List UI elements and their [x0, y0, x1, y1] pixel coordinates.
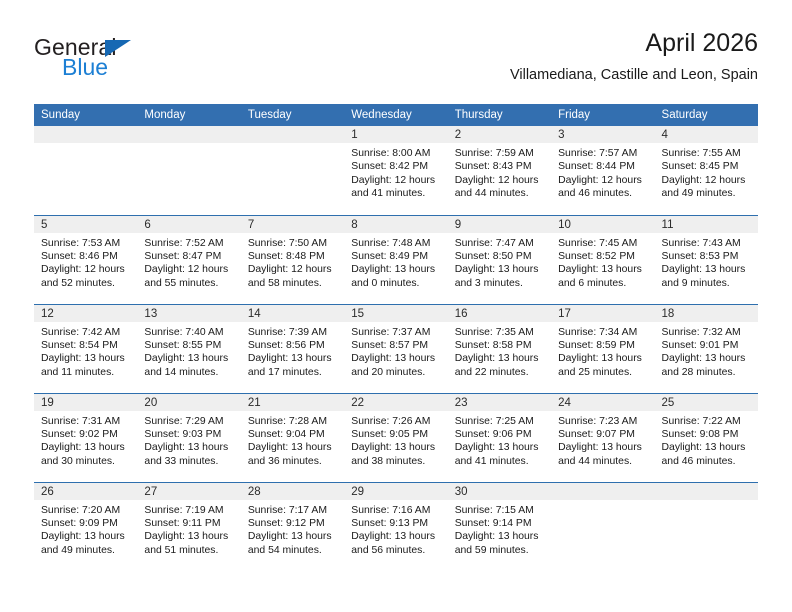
- daylight-text-line1: Daylight: 13 hours: [455, 530, 545, 543]
- daylight-text-line2: and 54 minutes.: [248, 544, 338, 557]
- page-title: April 2026: [510, 28, 758, 58]
- day-number: 19: [34, 394, 137, 411]
- day-cell-details: Sunrise: 7:22 AMSunset: 9:08 PMDaylight:…: [655, 411, 758, 469]
- day-cell-inner: 22Sunrise: 7:26 AMSunset: 9:05 PMDayligh…: [344, 394, 447, 482]
- day-cell-inner: 24Sunrise: 7:23 AMSunset: 9:07 PMDayligh…: [551, 394, 654, 482]
- daylight-text-line2: and 0 minutes.: [351, 277, 441, 290]
- daylight-text-line2: and 58 minutes.: [248, 277, 338, 290]
- day-number: 15: [344, 305, 447, 322]
- day-cell-inner: 25Sunrise: 7:22 AMSunset: 9:08 PMDayligh…: [655, 394, 758, 482]
- sunset-text: Sunset: 8:56 PM: [248, 339, 338, 352]
- daylight-text-line1: Daylight: 13 hours: [351, 352, 441, 365]
- day-number: 27: [137, 483, 240, 500]
- day-cell-inner: [241, 126, 344, 215]
- daylight-text-line2: and 41 minutes.: [351, 187, 441, 200]
- day-cell-details: Sunrise: 7:29 AMSunset: 9:03 PMDaylight:…: [137, 411, 240, 469]
- day-cell-inner: 7Sunrise: 7:50 AMSunset: 8:48 PMDaylight…: [241, 216, 344, 304]
- sunrise-text: Sunrise: 7:52 AM: [144, 237, 234, 250]
- sunset-text: Sunset: 8:44 PM: [558, 160, 648, 173]
- sunset-text: Sunset: 8:57 PM: [351, 339, 441, 352]
- day-cell-details: Sunrise: 7:45 AMSunset: 8:52 PMDaylight:…: [551, 233, 654, 291]
- daylight-text-line2: and 56 minutes.: [351, 544, 441, 557]
- day-cell[interactable]: 24Sunrise: 7:23 AMSunset: 9:07 PMDayligh…: [551, 393, 654, 482]
- sunrise-text: Sunrise: 7:19 AM: [144, 504, 234, 517]
- calendar-page: General Blue April 2026 Villamediana, Ca…: [0, 0, 792, 612]
- day-cell-empty: [137, 126, 240, 215]
- sunrise-text: Sunrise: 7:40 AM: [144, 326, 234, 339]
- daylight-text-line1: Daylight: 12 hours: [144, 263, 234, 276]
- day-cell-details: Sunrise: 8:00 AMSunset: 8:42 PMDaylight:…: [344, 143, 447, 201]
- sunset-text: Sunset: 8:47 PM: [144, 250, 234, 263]
- sunset-text: Sunset: 9:04 PM: [248, 428, 338, 441]
- day-cell[interactable]: 9Sunrise: 7:47 AMSunset: 8:50 PMDaylight…: [448, 215, 551, 304]
- daylight-text-line1: Daylight: 12 hours: [351, 174, 441, 187]
- day-cell-details: Sunrise: 7:15 AMSunset: 9:14 PMDaylight:…: [448, 500, 551, 558]
- daylight-text-line1: Daylight: 13 hours: [455, 352, 545, 365]
- day-number: 5: [34, 216, 137, 233]
- calendar-body: 1Sunrise: 8:00 AMSunset: 8:42 PMDaylight…: [34, 126, 758, 571]
- sunset-text: Sunset: 8:49 PM: [351, 250, 441, 263]
- day-number: 25: [655, 394, 758, 411]
- day-cell-inner: 30Sunrise: 7:15 AMSunset: 9:14 PMDayligh…: [448, 483, 551, 572]
- daylight-text-line2: and 59 minutes.: [455, 544, 545, 557]
- day-number: 1: [344, 126, 447, 143]
- sunset-text: Sunset: 9:08 PM: [662, 428, 752, 441]
- day-cell[interactable]: 27Sunrise: 7:19 AMSunset: 9:11 PMDayligh…: [137, 482, 240, 571]
- daylight-text-line2: and 30 minutes.: [41, 455, 131, 468]
- day-cell[interactable]: 29Sunrise: 7:16 AMSunset: 9:13 PMDayligh…: [344, 482, 447, 571]
- day-cell-inner: 14Sunrise: 7:39 AMSunset: 8:56 PMDayligh…: [241, 305, 344, 393]
- daylight-text-line1: Daylight: 13 hours: [41, 352, 131, 365]
- daylight-text-line1: Daylight: 13 hours: [41, 441, 131, 454]
- day-cell-inner: 28Sunrise: 7:17 AMSunset: 9:12 PMDayligh…: [241, 483, 344, 572]
- day-number: 20: [137, 394, 240, 411]
- day-cell-inner: 17Sunrise: 7:34 AMSunset: 8:59 PMDayligh…: [551, 305, 654, 393]
- day-cell[interactable]: 19Sunrise: 7:31 AMSunset: 9:02 PMDayligh…: [34, 393, 137, 482]
- day-cell[interactable]: 15Sunrise: 7:37 AMSunset: 8:57 PMDayligh…: [344, 304, 447, 393]
- day-cell-inner: 19Sunrise: 7:31 AMSunset: 9:02 PMDayligh…: [34, 394, 137, 482]
- day-cell-inner: 27Sunrise: 7:19 AMSunset: 9:11 PMDayligh…: [137, 483, 240, 572]
- calendar-header-row: SundayMondayTuesdayWednesdayThursdayFrid…: [34, 104, 758, 126]
- sunset-text: Sunset: 9:14 PM: [455, 517, 545, 530]
- day-cell-details: Sunrise: 7:48 AMSunset: 8:49 PMDaylight:…: [344, 233, 447, 291]
- daylight-text-line2: and 49 minutes.: [41, 544, 131, 557]
- day-number: 29: [344, 483, 447, 500]
- day-cell-details: Sunrise: 7:25 AMSunset: 9:06 PMDaylight:…: [448, 411, 551, 469]
- daylight-text-line2: and 3 minutes.: [455, 277, 545, 290]
- daylight-text-line1: Daylight: 13 hours: [248, 441, 338, 454]
- day-cell-details: Sunrise: 7:32 AMSunset: 9:01 PMDaylight:…: [655, 322, 758, 380]
- weekday-header-saturday: Saturday: [655, 104, 758, 126]
- sunrise-text: Sunrise: 7:17 AM: [248, 504, 338, 517]
- sunset-text: Sunset: 8:59 PM: [558, 339, 648, 352]
- day-cell-details: Sunrise: 7:57 AMSunset: 8:44 PMDaylight:…: [551, 143, 654, 201]
- sunrise-text: Sunrise: 7:37 AM: [351, 326, 441, 339]
- sunset-text: Sunset: 9:11 PM: [144, 517, 234, 530]
- weekday-header-tuesday: Tuesday: [241, 104, 344, 126]
- daylight-text-line1: Daylight: 13 hours: [455, 441, 545, 454]
- sunset-text: Sunset: 8:48 PM: [248, 250, 338, 263]
- daylight-text-line2: and 49 minutes.: [662, 187, 752, 200]
- sunrise-text: Sunrise: 7:23 AM: [558, 415, 648, 428]
- daylight-text-line2: and 22 minutes.: [455, 366, 545, 379]
- sunrise-text: Sunrise: 7:20 AM: [41, 504, 131, 517]
- day-cell[interactable]: 23Sunrise: 7:25 AMSunset: 9:06 PMDayligh…: [448, 393, 551, 482]
- calendar-week-row: 12Sunrise: 7:42 AMSunset: 8:54 PMDayligh…: [34, 304, 758, 393]
- day-cell-inner: 2Sunrise: 7:59 AMSunset: 8:43 PMDaylight…: [448, 126, 551, 215]
- daylight-text-line1: Daylight: 13 hours: [662, 263, 752, 276]
- calendar-week-row: 5Sunrise: 7:53 AMSunset: 8:46 PMDaylight…: [34, 215, 758, 304]
- logo-triangle-icon: [105, 40, 131, 57]
- daylight-text-line2: and 41 minutes.: [455, 455, 545, 468]
- weekday-header-wednesday: Wednesday: [344, 104, 447, 126]
- day-cell-inner: 23Sunrise: 7:25 AMSunset: 9:06 PMDayligh…: [448, 394, 551, 482]
- day-cell[interactable]: 2Sunrise: 7:59 AMSunset: 8:43 PMDaylight…: [448, 126, 551, 215]
- daylight-text-line1: Daylight: 13 hours: [144, 441, 234, 454]
- sunset-text: Sunset: 9:13 PM: [351, 517, 441, 530]
- daylight-text-line1: Daylight: 13 hours: [558, 441, 648, 454]
- daylight-text-line1: Daylight: 13 hours: [248, 530, 338, 543]
- day-number: 17: [551, 305, 654, 322]
- sunrise-text: Sunrise: 8:00 AM: [351, 147, 441, 160]
- day-number: 11: [655, 216, 758, 233]
- day-cell[interactable]: 11Sunrise: 7:43 AMSunset: 8:53 PMDayligh…: [655, 215, 758, 304]
- day-number: [34, 126, 137, 143]
- page-header: General Blue April 2026 Villamediana, Ca…: [34, 28, 758, 98]
- day-cell-details: Sunrise: 7:20 AMSunset: 9:09 PMDaylight:…: [34, 500, 137, 558]
- day-cell[interactable]: 10Sunrise: 7:45 AMSunset: 8:52 PMDayligh…: [551, 215, 654, 304]
- day-cell[interactable]: 30Sunrise: 7:15 AMSunset: 9:14 PMDayligh…: [448, 482, 551, 571]
- day-cell-details: Sunrise: 7:23 AMSunset: 9:07 PMDaylight:…: [551, 411, 654, 469]
- day-cell-details: Sunrise: 7:40 AMSunset: 8:55 PMDaylight:…: [137, 322, 240, 380]
- day-cell[interactable]: 21Sunrise: 7:28 AMSunset: 9:04 PMDayligh…: [241, 393, 344, 482]
- daylight-text-line2: and 55 minutes.: [144, 277, 234, 290]
- daylight-text-line2: and 44 minutes.: [558, 455, 648, 468]
- day-number: 26: [34, 483, 137, 500]
- day-cell-empty: [241, 126, 344, 215]
- calendar-week-row: 1Sunrise: 8:00 AMSunset: 8:42 PMDaylight…: [34, 126, 758, 215]
- day-number: 8: [344, 216, 447, 233]
- day-cell-details: Sunrise: 7:59 AMSunset: 8:43 PMDaylight:…: [448, 143, 551, 201]
- day-number: 30: [448, 483, 551, 500]
- day-cell-details: Sunrise: 7:53 AMSunset: 8:46 PMDaylight:…: [34, 233, 137, 291]
- sunset-text: Sunset: 9:02 PM: [41, 428, 131, 441]
- day-cell-inner: 8Sunrise: 7:48 AMSunset: 8:49 PMDaylight…: [344, 216, 447, 304]
- sunrise-text: Sunrise: 7:59 AM: [455, 147, 545, 160]
- daylight-text-line2: and 6 minutes.: [558, 277, 648, 290]
- day-cell-inner: 16Sunrise: 7:35 AMSunset: 8:58 PMDayligh…: [448, 305, 551, 393]
- day-cell-empty: [551, 482, 654, 571]
- daylight-text-line1: Daylight: 13 hours: [41, 530, 131, 543]
- sunset-text: Sunset: 9:03 PM: [144, 428, 234, 441]
- sunrise-text: Sunrise: 7:45 AM: [558, 237, 648, 250]
- day-cell-details: Sunrise: 7:31 AMSunset: 9:02 PMDaylight:…: [34, 411, 137, 469]
- sunrise-text: Sunrise: 7:48 AM: [351, 237, 441, 250]
- daylight-text-line1: Daylight: 13 hours: [558, 263, 648, 276]
- day-cell-inner: 26Sunrise: 7:20 AMSunset: 9:09 PMDayligh…: [34, 483, 137, 572]
- sunrise-text: Sunrise: 7:16 AM: [351, 504, 441, 517]
- sunrise-text: Sunrise: 7:53 AM: [41, 237, 131, 250]
- sunset-text: Sunset: 9:09 PM: [41, 517, 131, 530]
- weekday-header-thursday: Thursday: [448, 104, 551, 126]
- day-cell[interactable]: 7Sunrise: 7:50 AMSunset: 8:48 PMDaylight…: [241, 215, 344, 304]
- sunrise-text: Sunrise: 7:35 AM: [455, 326, 545, 339]
- day-cell[interactable]: 14Sunrise: 7:39 AMSunset: 8:56 PMDayligh…: [241, 304, 344, 393]
- day-number: 16: [448, 305, 551, 322]
- day-number: 21: [241, 394, 344, 411]
- day-cell[interactable]: 6Sunrise: 7:52 AMSunset: 8:47 PMDaylight…: [137, 215, 240, 304]
- daylight-text-line2: and 25 minutes.: [558, 366, 648, 379]
- day-cell-inner: 13Sunrise: 7:40 AMSunset: 8:55 PMDayligh…: [137, 305, 240, 393]
- day-cell-details: Sunrise: 7:39 AMSunset: 8:56 PMDaylight:…: [241, 322, 344, 380]
- day-cell-details: Sunrise: 7:34 AMSunset: 8:59 PMDaylight:…: [551, 322, 654, 380]
- day-cell-inner: [34, 126, 137, 215]
- day-number: 2: [448, 126, 551, 143]
- daylight-text-line1: Daylight: 13 hours: [351, 263, 441, 276]
- sunrise-text: Sunrise: 7:47 AM: [455, 237, 545, 250]
- day-cell-inner: 29Sunrise: 7:16 AMSunset: 9:13 PMDayligh…: [344, 483, 447, 572]
- sunrise-text: Sunrise: 7:34 AM: [558, 326, 648, 339]
- day-cell-details: Sunrise: 7:19 AMSunset: 9:11 PMDaylight:…: [137, 500, 240, 558]
- day-number: [137, 126, 240, 143]
- daylight-text-line1: Daylight: 12 hours: [248, 263, 338, 276]
- daylight-text-line1: Daylight: 13 hours: [248, 352, 338, 365]
- day-number: 7: [241, 216, 344, 233]
- day-cell-details: Sunrise: 7:52 AMSunset: 8:47 PMDaylight:…: [137, 233, 240, 291]
- day-cell-inner: 3Sunrise: 7:57 AMSunset: 8:44 PMDaylight…: [551, 126, 654, 215]
- day-cell-inner: 1Sunrise: 8:00 AMSunset: 8:42 PMDaylight…: [344, 126, 447, 215]
- day-cell[interactable]: 4Sunrise: 7:55 AMSunset: 8:45 PMDaylight…: [655, 126, 758, 215]
- sunrise-text: Sunrise: 7:26 AM: [351, 415, 441, 428]
- title-block: April 2026 Villamediana, Castille and Le…: [510, 28, 758, 86]
- day-cell[interactable]: 3Sunrise: 7:57 AMSunset: 8:44 PMDaylight…: [551, 126, 654, 215]
- day-number: 28: [241, 483, 344, 500]
- daylight-text-line1: Daylight: 12 hours: [41, 263, 131, 276]
- sunset-text: Sunset: 8:54 PM: [41, 339, 131, 352]
- sunset-text: Sunset: 8:53 PM: [662, 250, 752, 263]
- day-cell-inner: 6Sunrise: 7:52 AMSunset: 8:47 PMDaylight…: [137, 216, 240, 304]
- daylight-text-line1: Daylight: 13 hours: [662, 352, 752, 365]
- weekday-header-monday: Monday: [137, 104, 240, 126]
- day-cell-inner: 12Sunrise: 7:42 AMSunset: 8:54 PMDayligh…: [34, 305, 137, 393]
- sunrise-text: Sunrise: 7:43 AM: [662, 237, 752, 250]
- weekday-header-friday: Friday: [551, 104, 654, 126]
- day-cell[interactable]: 8Sunrise: 7:48 AMSunset: 8:49 PMDaylight…: [344, 215, 447, 304]
- sunset-text: Sunset: 9:12 PM: [248, 517, 338, 530]
- day-cell[interactable]: 17Sunrise: 7:34 AMSunset: 8:59 PMDayligh…: [551, 304, 654, 393]
- sunset-text: Sunset: 9:01 PM: [662, 339, 752, 352]
- day-number: 22: [344, 394, 447, 411]
- daylight-text-line2: and 44 minutes.: [455, 187, 545, 200]
- day-number: 13: [137, 305, 240, 322]
- day-number: 18: [655, 305, 758, 322]
- sunset-text: Sunset: 8:43 PM: [455, 160, 545, 173]
- day-cell-details: Sunrise: 7:37 AMSunset: 8:57 PMDaylight:…: [344, 322, 447, 380]
- day-number: 4: [655, 126, 758, 143]
- daylight-text-line1: Daylight: 12 hours: [455, 174, 545, 187]
- sunrise-text: Sunrise: 7:28 AM: [248, 415, 338, 428]
- sunrise-text: Sunrise: 7:25 AM: [455, 415, 545, 428]
- calendar-grid: SundayMondayTuesdayWednesdayThursdayFrid…: [34, 104, 758, 571]
- day-cell-inner: 20Sunrise: 7:29 AMSunset: 9:03 PMDayligh…: [137, 394, 240, 482]
- sunrise-text: Sunrise: 7:29 AM: [144, 415, 234, 428]
- daylight-text-line2: and 46 minutes.: [662, 455, 752, 468]
- day-cell[interactable]: 25Sunrise: 7:22 AMSunset: 9:08 PMDayligh…: [655, 393, 758, 482]
- page-subtitle: Villamediana, Castille and Leon, Spain: [510, 64, 758, 86]
- sunrise-text: Sunrise: 7:32 AM: [662, 326, 752, 339]
- day-cell-details: Sunrise: 7:35 AMSunset: 8:58 PMDaylight:…: [448, 322, 551, 380]
- daylight-text-line1: Daylight: 13 hours: [144, 352, 234, 365]
- sunset-text: Sunset: 9:07 PM: [558, 428, 648, 441]
- day-cell-details: Sunrise: 7:28 AMSunset: 9:04 PMDaylight:…: [241, 411, 344, 469]
- day-cell[interactable]: 22Sunrise: 7:26 AMSunset: 9:05 PMDayligh…: [344, 393, 447, 482]
- daylight-text-line1: Daylight: 13 hours: [144, 530, 234, 543]
- sunrise-text: Sunrise: 7:39 AM: [248, 326, 338, 339]
- daylight-text-line2: and 17 minutes.: [248, 366, 338, 379]
- daylight-text-line1: Daylight: 12 hours: [558, 174, 648, 187]
- sunset-text: Sunset: 8:58 PM: [455, 339, 545, 352]
- day-cell[interactable]: 18Sunrise: 7:32 AMSunset: 9:01 PMDayligh…: [655, 304, 758, 393]
- day-cell-empty: [655, 482, 758, 571]
- calendar-week-row: 26Sunrise: 7:20 AMSunset: 9:09 PMDayligh…: [34, 482, 758, 571]
- day-cell[interactable]: 5Sunrise: 7:53 AMSunset: 8:46 PMDaylight…: [34, 215, 137, 304]
- daylight-text-line2: and 11 minutes.: [41, 366, 131, 379]
- daylight-text-line1: Daylight: 13 hours: [662, 441, 752, 454]
- sunset-text: Sunset: 8:55 PM: [144, 339, 234, 352]
- day-cell-inner: [655, 483, 758, 572]
- day-cell[interactable]: 26Sunrise: 7:20 AMSunset: 9:09 PMDayligh…: [34, 482, 137, 571]
- day-cell[interactable]: 28Sunrise: 7:17 AMSunset: 9:12 PMDayligh…: [241, 482, 344, 571]
- day-number: [551, 483, 654, 500]
- sunset-text: Sunset: 9:06 PM: [455, 428, 545, 441]
- day-cell-empty: [34, 126, 137, 215]
- daylight-text-line2: and 51 minutes.: [144, 544, 234, 557]
- sunset-text: Sunset: 8:50 PM: [455, 250, 545, 263]
- day-number: 9: [448, 216, 551, 233]
- daylight-text-line2: and 46 minutes.: [558, 187, 648, 200]
- daylight-text-line2: and 20 minutes.: [351, 366, 441, 379]
- day-cell-inner: 5Sunrise: 7:53 AMSunset: 8:46 PMDaylight…: [34, 216, 137, 304]
- day-cell-details: Sunrise: 7:26 AMSunset: 9:05 PMDaylight:…: [344, 411, 447, 469]
- day-cell-inner: 10Sunrise: 7:45 AMSunset: 8:52 PMDayligh…: [551, 216, 654, 304]
- daylight-text-line2: and 52 minutes.: [41, 277, 131, 290]
- daylight-text-line2: and 38 minutes.: [351, 455, 441, 468]
- day-cell-inner: 4Sunrise: 7:55 AMSunset: 8:45 PMDaylight…: [655, 126, 758, 215]
- daylight-text-line2: and 9 minutes.: [662, 277, 752, 290]
- day-number: 24: [551, 394, 654, 411]
- daylight-text-line1: Daylight: 12 hours: [662, 174, 752, 187]
- day-cell-inner: 18Sunrise: 7:32 AMSunset: 9:01 PMDayligh…: [655, 305, 758, 393]
- sunset-text: Sunset: 9:05 PM: [351, 428, 441, 441]
- day-cell-inner: 15Sunrise: 7:37 AMSunset: 8:57 PMDayligh…: [344, 305, 447, 393]
- day-cell-details: Sunrise: 7:43 AMSunset: 8:53 PMDaylight:…: [655, 233, 758, 291]
- sunset-text: Sunset: 8:45 PM: [662, 160, 752, 173]
- day-cell[interactable]: 1Sunrise: 8:00 AMSunset: 8:42 PMDaylight…: [344, 126, 447, 215]
- daylight-text-line1: Daylight: 13 hours: [455, 263, 545, 276]
- sunrise-text: Sunrise: 7:50 AM: [248, 237, 338, 250]
- general-blue-logo: General Blue: [34, 34, 264, 90]
- day-number: [241, 126, 344, 143]
- day-cell[interactable]: 13Sunrise: 7:40 AMSunset: 8:55 PMDayligh…: [137, 304, 240, 393]
- weekday-header-sunday: Sunday: [34, 104, 137, 126]
- day-number: [655, 483, 758, 500]
- day-cell-details: Sunrise: 7:50 AMSunset: 8:48 PMDaylight:…: [241, 233, 344, 291]
- day-cell-inner: [137, 126, 240, 215]
- day-cell-details: Sunrise: 7:42 AMSunset: 8:54 PMDaylight:…: [34, 322, 137, 380]
- day-cell-details: Sunrise: 7:55 AMSunset: 8:45 PMDaylight:…: [655, 143, 758, 201]
- day-cell-details: Sunrise: 7:16 AMSunset: 9:13 PMDaylight:…: [344, 500, 447, 558]
- sunrise-text: Sunrise: 7:31 AM: [41, 415, 131, 428]
- day-cell-inner: 11Sunrise: 7:43 AMSunset: 8:53 PMDayligh…: [655, 216, 758, 304]
- day-cell[interactable]: 20Sunrise: 7:29 AMSunset: 9:03 PMDayligh…: [137, 393, 240, 482]
- day-number: 10: [551, 216, 654, 233]
- calendar-week-row: 19Sunrise: 7:31 AMSunset: 9:02 PMDayligh…: [34, 393, 758, 482]
- sunrise-text: Sunrise: 7:55 AM: [662, 147, 752, 160]
- daylight-text-line2: and 14 minutes.: [144, 366, 234, 379]
- daylight-text-line1: Daylight: 13 hours: [351, 530, 441, 543]
- sunset-text: Sunset: 8:52 PM: [558, 250, 648, 263]
- sunset-text: Sunset: 8:46 PM: [41, 250, 131, 263]
- day-cell-details: Sunrise: 7:47 AMSunset: 8:50 PMDaylight:…: [448, 233, 551, 291]
- day-cell[interactable]: 12Sunrise: 7:42 AMSunset: 8:54 PMDayligh…: [34, 304, 137, 393]
- daylight-text-line1: Daylight: 13 hours: [558, 352, 648, 365]
- day-number: 23: [448, 394, 551, 411]
- sunrise-text: Sunrise: 7:57 AM: [558, 147, 648, 160]
- day-cell[interactable]: 16Sunrise: 7:35 AMSunset: 8:58 PMDayligh…: [448, 304, 551, 393]
- sunset-text: Sunset: 8:42 PM: [351, 160, 441, 173]
- day-cell-details: Sunrise: 7:17 AMSunset: 9:12 PMDaylight:…: [241, 500, 344, 558]
- day-number: 6: [137, 216, 240, 233]
- sunrise-text: Sunrise: 7:15 AM: [455, 504, 545, 517]
- day-number: 14: [241, 305, 344, 322]
- day-cell-inner: 9Sunrise: 7:47 AMSunset: 8:50 PMDaylight…: [448, 216, 551, 304]
- day-number: 12: [34, 305, 137, 322]
- daylight-text-line2: and 33 minutes.: [144, 455, 234, 468]
- sunrise-text: Sunrise: 7:42 AM: [41, 326, 131, 339]
- logo-text-blue: Blue: [62, 54, 108, 81]
- daylight-text-line2: and 36 minutes.: [248, 455, 338, 468]
- day-cell-inner: [551, 483, 654, 572]
- day-number: 3: [551, 126, 654, 143]
- daylight-text-line1: Daylight: 13 hours: [351, 441, 441, 454]
- sunrise-text: Sunrise: 7:22 AM: [662, 415, 752, 428]
- day-cell-inner: 21Sunrise: 7:28 AMSunset: 9:04 PMDayligh…: [241, 394, 344, 482]
- daylight-text-line2: and 28 minutes.: [662, 366, 752, 379]
